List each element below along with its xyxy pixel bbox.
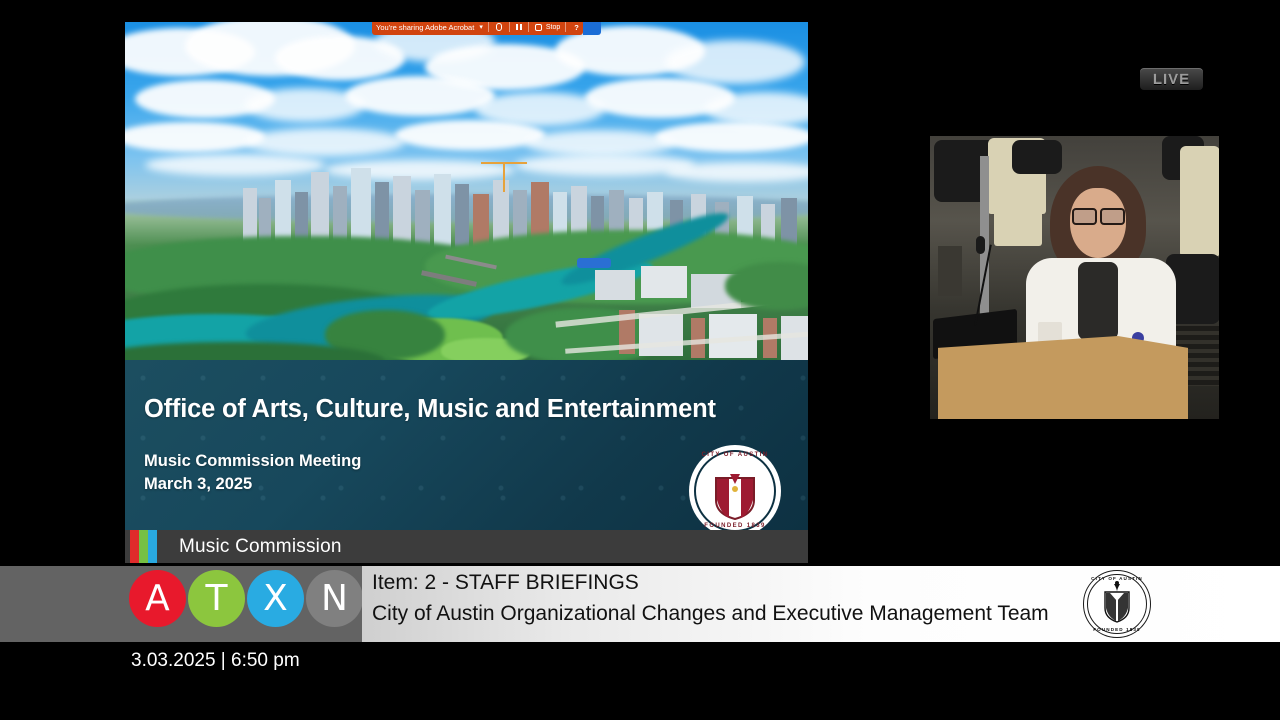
meeting-title-bar: Music Commission: [125, 530, 808, 563]
live-badge: LIVE: [1140, 68, 1203, 90]
seal-shield-icon: [712, 474, 758, 520]
shared-slide: Office of Arts, Culture, Music and Enter…: [125, 22, 808, 530]
screen-share-control-bar[interactable]: You're sharing Adobe Acrobat ▾ Stop ?: [372, 22, 583, 35]
speaker-video-feed: [930, 136, 1219, 419]
atxn-letter-x: X: [247, 570, 304, 627]
slide-subtitle-line2: March 3, 2025: [144, 473, 361, 496]
stop-sharing-button[interactable]: Stop: [534, 22, 560, 32]
city-of-austin-seal-icon: CITY OF AUSTIN FOUNDED 1839: [689, 445, 781, 530]
meeting-title-label: Music Commission: [179, 536, 342, 558]
share-bar-accent: [583, 22, 601, 35]
atxn-letter-n: N: [306, 570, 363, 627]
divider: [509, 22, 510, 32]
broadcast-timestamp: 3.03.2025 | 6:50 pm: [131, 650, 300, 672]
slide-subtitle-line1: Music Commission Meeting: [144, 450, 361, 473]
seal-bottom-text: FOUNDED 1839: [689, 523, 781, 529]
bw-seal-shield-icon: [1083, 570, 1151, 638]
microphone-button[interactable]: [494, 22, 504, 32]
divider: [565, 22, 566, 32]
atxn-logo: A T X N: [129, 570, 365, 627]
austin-skyline-photo: [125, 22, 808, 360]
stop-label: Stop: [546, 24, 560, 31]
city-of-austin-seal-bw-icon: CITY OF AUSTIN FOUNDED 1839: [1083, 570, 1151, 638]
seal-top-text: CITY OF AUSTIN: [689, 452, 781, 458]
color-stripes-icon: [130, 530, 157, 563]
slide-title: Office of Arts, Culture, Music and Enter…: [144, 395, 716, 424]
slide-title-block: Office of Arts, Culture, Music and Enter…: [125, 360, 808, 530]
sharing-status-text: You're sharing Adobe Acrobat: [376, 23, 474, 32]
agenda-description-label: City of Austin Organizational Changes an…: [372, 602, 1049, 626]
chevron-down-icon[interactable]: ▾: [479, 23, 483, 31]
atxn-letter-a: A: [129, 570, 186, 627]
divider: [528, 22, 529, 32]
live-badge-label: LIVE: [1153, 71, 1190, 88]
broadcast-stage: Office of Arts, Culture, Music and Enter…: [0, 0, 1280, 720]
divider: [488, 22, 489, 32]
help-button[interactable]: ?: [571, 23, 579, 32]
atxn-letter-t: T: [188, 570, 245, 627]
slide-subtitle: Music Commission Meeting March 3, 2025: [144, 450, 361, 496]
pause-button[interactable]: [515, 23, 523, 31]
agenda-item-label: Item: 2 - STAFF BRIEFINGS: [372, 571, 639, 595]
